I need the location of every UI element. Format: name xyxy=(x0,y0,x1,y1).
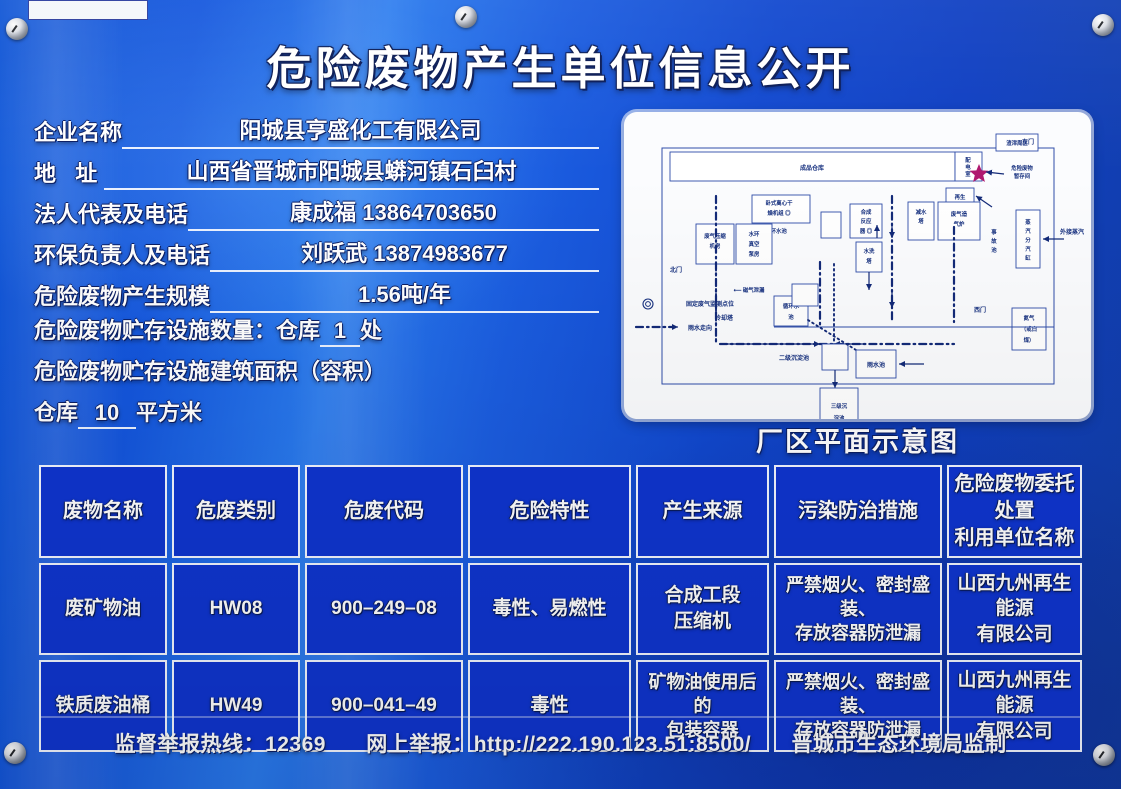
information-board: 危险废物产生单位信息公开 企业名称 阳城县亨盛化工有限公司 地 址 山西省晋城市… xyxy=(0,0,1121,789)
svg-text:器 ◎: 器 ◎ xyxy=(859,227,873,235)
label-legal-rep: 法人代表及电话 xyxy=(34,197,188,231)
svg-text:事: 事 xyxy=(991,228,997,236)
footer-bar: 监督举报热线：12369 网上举报：http://222.190.123.51:… xyxy=(0,728,1121,758)
info-row-scale: 危险废物产生规模 1.56吨/年 xyxy=(34,272,599,313)
company-info-block: 企业名称 阳城县亨盛化工有限公司 地 址 山西省晋城市阳城县蟒河镇石臼村 法人代… xyxy=(34,108,599,436)
mounting-bolt-icon xyxy=(455,6,477,28)
svg-text:三级沉: 三级沉 xyxy=(831,402,848,410)
svg-text:燥机组 ◎: 燥机组 ◎ xyxy=(767,209,791,217)
value-company: 阳城县亨盛化工有限公司 xyxy=(122,113,599,149)
cell-disposal-line1: 山西九州再生能源 xyxy=(951,571,1078,622)
svg-text:汽: 汽 xyxy=(1025,227,1031,235)
page-title: 危险废物产生单位信息公开 xyxy=(0,32,1121,97)
svg-text:冷却塔: 冷却塔 xyxy=(715,314,734,322)
value-address: 山西省晋城市阳城县蟒河镇石臼村 xyxy=(104,154,599,190)
svg-text:氮气: 氮气 xyxy=(1024,314,1035,322)
svg-text:配: 配 xyxy=(965,156,971,164)
label-env-officer: 环保负责人及电话 xyxy=(34,238,210,272)
site-plan-svg: .bx{fill:#ffffff;stroke:#2e4ca8;stroke-w… xyxy=(624,112,1091,419)
svg-text:暂存间: 暂存间 xyxy=(1014,172,1031,180)
label-address: 地 址 xyxy=(34,156,104,190)
th-code: 危废代码 xyxy=(305,465,463,558)
info-row-area-label: 危险废物贮存设施建筑面积（容积） xyxy=(34,354,599,395)
info-row-address: 地 址 山西省晋城市阳城县蟒河镇石臼村 xyxy=(34,149,599,190)
value-scale: 1.56吨/年 xyxy=(210,277,599,313)
cell-source-line1: 矿物油使用后的 xyxy=(640,670,765,719)
info-row-area-value: 仓库10平方米 xyxy=(34,395,599,436)
value-env-officer: 刘跃武 13874983677 xyxy=(210,236,599,272)
th-measures: 污染防治措施 xyxy=(774,465,942,558)
cell-source-line1: 合成工段 xyxy=(640,583,765,609)
svg-text:外接蒸汽: 外接蒸汽 xyxy=(1059,228,1084,236)
svg-text:煤）: 煤） xyxy=(1024,336,1035,344)
label-scale: 危险废物产生规模 xyxy=(34,279,210,313)
value-legal-rep: 康成福 13864703650 xyxy=(188,195,599,231)
cell-measures-line2: 存放容器防泄漏 xyxy=(778,621,938,645)
svg-text:再生: 再生 xyxy=(955,193,966,201)
table-row: 废矿物油 HW08 900–249–08 毒性、易燃性 合成工段 压缩机 严禁烟… xyxy=(39,563,1082,655)
label-company: 企业名称 xyxy=(34,115,122,149)
cell-waste-name: 废矿物油 xyxy=(39,563,167,655)
cell-category: HW08 xyxy=(172,563,300,655)
footer-online-report[interactable]: 网上举报：http://222.190.123.51:8500/ xyxy=(366,728,751,758)
svg-text:（或白: （或白 xyxy=(1021,325,1037,333)
th-disposal-unit-line1: 危险废物委托处置 xyxy=(951,471,1078,525)
svg-text:⟵ 磁气泄漏: ⟵ 磁气泄漏 xyxy=(734,286,765,294)
cell-code: 900–249–08 xyxy=(305,563,463,655)
footer-divider xyxy=(40,716,1080,718)
cell-source-line2: 压缩机 xyxy=(640,609,765,635)
svg-text:东门: 东门 xyxy=(1022,138,1034,146)
svg-text:废气造: 废气造 xyxy=(951,210,968,218)
svg-text:合成: 合成 xyxy=(861,208,872,216)
svg-text:真空: 真空 xyxy=(749,240,760,248)
svg-text:电: 电 xyxy=(965,163,971,171)
svg-text:蒸: 蒸 xyxy=(1024,218,1031,226)
unit-facility-count: 处 xyxy=(360,318,382,345)
cell-hazard: 毒性、易燃性 xyxy=(468,563,631,655)
svg-text:危险废物: 危险废物 xyxy=(1011,164,1033,172)
svg-text:成品仓库: 成品仓库 xyxy=(800,164,824,172)
site-plan-caption: 厂区平面示意图 xyxy=(624,420,1091,459)
th-category: 危废类别 xyxy=(172,465,300,558)
info-row-company: 企业名称 阳城县亨盛化工有限公司 xyxy=(34,108,599,149)
cell-disposal-line2: 有限公司 xyxy=(951,622,1078,648)
svg-text:卧式离心干: 卧式离心干 xyxy=(766,199,794,207)
table-header-row: 废物名称 危废类别 危废代码 危险特性 产生来源 污染防治措施 危险废物委托处置… xyxy=(39,465,1082,558)
th-disposal-unit-line2: 利用单位名称 xyxy=(951,525,1078,552)
label-warehouse: 仓库 xyxy=(34,400,78,427)
footer-hotline: 监督举报热线：12369 xyxy=(115,728,326,758)
svg-text:塔: 塔 xyxy=(866,257,872,265)
info-row-facility-count: 危险废物贮存设施数量：仓库1处 xyxy=(34,313,599,354)
th-disposal-unit: 危险废物委托处置 利用单位名称 xyxy=(947,465,1082,558)
svg-text:固定废气监测点位: 固定废气监测点位 xyxy=(686,300,734,308)
svg-text:池: 池 xyxy=(991,246,997,254)
site-plan-diagram: .bx{fill:#ffffff;stroke:#2e4ca8;stroke-w… xyxy=(624,112,1091,419)
svg-text:池: 池 xyxy=(788,313,794,321)
th-source: 产生来源 xyxy=(636,465,769,558)
hazardous-waste-table: 废物名称 危废类别 危废代码 危险特性 产生来源 污染防治措施 危险废物委托处置… xyxy=(34,460,1087,757)
svg-text:雨水走向: 雨水走向 xyxy=(688,324,712,332)
board-top-strip xyxy=(28,0,148,20)
cell-disposal-line1: 山西九州再生能源 xyxy=(951,668,1078,719)
svg-text:北门: 北门 xyxy=(670,266,682,274)
svg-text:雨水池: 雨水池 xyxy=(867,361,885,369)
info-row-legal-rep: 法人代表及电话 康成福 13864703650 xyxy=(34,190,599,231)
svg-text:减水: 减水 xyxy=(916,208,927,216)
svg-text:汽: 汽 xyxy=(1025,245,1031,253)
info-row-env-officer: 环保负责人及电话 刘跃武 13874983677 xyxy=(34,231,599,272)
cell-measures: 严禁烟火、密封盛装、 存放容器防泄漏 xyxy=(774,563,942,655)
svg-text:二级沉淀池: 二级沉淀池 xyxy=(779,354,809,362)
cell-disposal-unit: 山西九州再生能源 有限公司 xyxy=(947,563,1082,655)
svg-text:西门: 西门 xyxy=(974,306,986,314)
svg-text:缸: 缸 xyxy=(1025,254,1031,262)
svg-text:故: 故 xyxy=(991,237,997,245)
svg-text:水环: 水环 xyxy=(749,230,760,238)
cell-measures-line1: 严禁烟火、密封盛装、 xyxy=(778,670,938,719)
unit-warehouse-area: 平方米 xyxy=(136,400,202,427)
th-waste-name: 废物名称 xyxy=(39,465,167,558)
cell-source: 合成工段 压缩机 xyxy=(636,563,769,655)
cell-measures-line1: 严禁烟火、密封盛装、 xyxy=(778,573,938,622)
svg-text:水洗: 水洗 xyxy=(864,247,875,255)
footer-authority: 晋城市生态环境局监制 xyxy=(791,728,1006,758)
label-storage-area: 危险废物贮存设施建筑面积（容积） xyxy=(34,359,386,386)
label-facility-count: 危险废物贮存设施数量：仓库 xyxy=(34,318,320,345)
value-warehouse-area: 10 xyxy=(78,400,136,429)
svg-text:塔: 塔 xyxy=(918,217,924,225)
svg-text:反应: 反应 xyxy=(861,217,872,225)
svg-text:分: 分 xyxy=(1025,236,1031,244)
th-hazard: 危险特性 xyxy=(468,465,631,558)
value-facility-count: 1 xyxy=(320,318,360,347)
svg-text:泵房: 泵房 xyxy=(749,250,760,258)
